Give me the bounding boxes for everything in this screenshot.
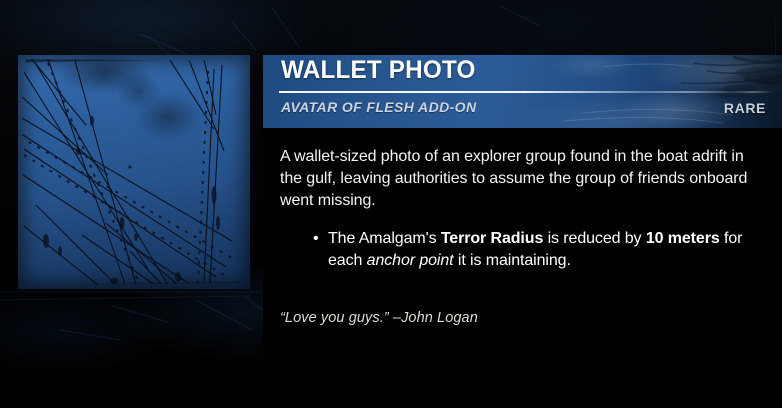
item-subtitle: AVATAR OF FLESH ADD-ON	[281, 99, 476, 115]
icon-vignette	[18, 55, 250, 289]
item-effect-entry: • The Amalgam's Terror Radius is reduced…	[280, 228, 764, 272]
item-effect-text: The Amalgam's Terror Radius is reduced b…	[328, 230, 742, 269]
item-body-panel: A wallet-sized photo of an explorer grou…	[263, 128, 782, 408]
wallet-photo-icon[interactable]	[18, 55, 250, 289]
rarity-badge: RARE	[724, 100, 766, 116]
title-divider	[279, 91, 773, 93]
item-description: A wallet-sized photo of an explorer grou…	[280, 146, 764, 212]
item-effect-list: • The Amalgam's Terror Radius is reduced…	[280, 228, 764, 272]
item-header-banner: WALLET PHOTO AVATAR OF FLESH ADD-ON RARE	[263, 55, 782, 128]
item-title: WALLET PHOTO	[281, 56, 476, 85]
bullet-icon: •	[313, 228, 319, 250]
item-flavor-quote: “Love you guys.” –John Logan	[280, 308, 764, 328]
item-tooltip-card: WALLET PHOTO AVATAR OF FLESH ADD-ON RARE…	[0, 0, 782, 408]
